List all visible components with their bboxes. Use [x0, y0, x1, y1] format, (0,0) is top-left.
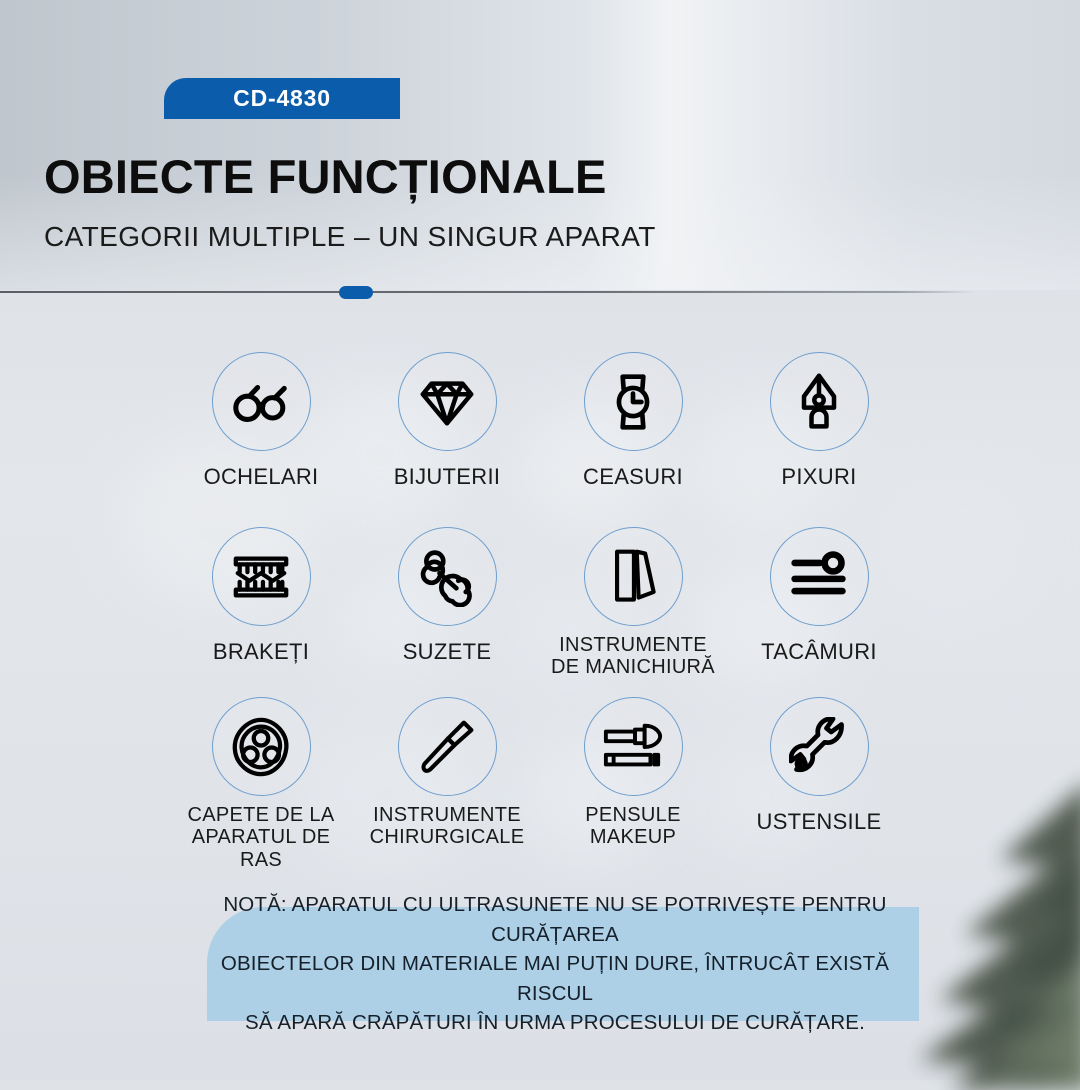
- icon-circle: [212, 352, 311, 451]
- category-item-instrumente-chirurgicale: INSTRUMENTE CHIRURGICALE: [354, 697, 540, 872]
- category-label: BIJUTERII: [394, 465, 501, 490]
- category-item-braketi: BRAKEȚI: [168, 527, 354, 697]
- dental-braces-icon: [230, 546, 292, 608]
- scalpel-icon: [417, 717, 477, 777]
- category-item-ustensile: USTENSILE: [726, 697, 912, 872]
- fountain-pen-nib-icon: [789, 372, 849, 432]
- icon-circle: [770, 697, 869, 796]
- category-label: INSTRUMENTE CHIRURGICALE: [370, 804, 525, 849]
- category-item-pensule-makeup: PENSULE MAKEUP: [540, 697, 726, 872]
- icon-circle: [212, 527, 311, 626]
- pacifier-icon: [417, 547, 477, 607]
- model-badge: CD-4830: [164, 78, 400, 119]
- category-item-bijuterii: BIJUTERII: [354, 352, 540, 527]
- header-divider: [0, 291, 975, 293]
- category-item-instrumente-de-manichiura: INSTRUMENTE DE MANICHIURĂ: [540, 527, 726, 697]
- icon-circle: [584, 352, 683, 451]
- header: CD-4830 OBIECTE FUNCȚIONALE CATEGORII MU…: [0, 0, 1080, 292]
- page-subtitle: CATEGORII MULTIPLE – UN SINGUR APARAT: [44, 221, 656, 253]
- icon-circle: [584, 697, 683, 796]
- category-item-capete-aparat-de-ras: CAPETE DE LA APARATUL DE RAS: [168, 697, 354, 872]
- makeup-brush-icon: [602, 716, 664, 778]
- icon-circle: [212, 697, 311, 796]
- category-label: PENSULE MAKEUP: [585, 804, 680, 849]
- divider-marker: [339, 286, 373, 299]
- cutlery-spoon-icon: [789, 547, 849, 607]
- category-label: PIXURI: [781, 465, 856, 490]
- category-item-ochelari: OCHELARI: [168, 352, 354, 527]
- page-title: OBIECTE FUNCȚIONALE: [44, 152, 607, 201]
- category-label: USTENSILE: [757, 810, 882, 835]
- category-label: CAPETE DE LA APARATUL DE RAS: [168, 804, 354, 871]
- model-badge-label: CD-4830: [233, 85, 331, 112]
- glasses-icon: [230, 371, 292, 433]
- shaver-heads-icon: [230, 716, 292, 778]
- category-label: BRAKEȚI: [213, 640, 309, 665]
- icon-circle: [398, 697, 497, 796]
- nail-file-icon: [603, 547, 663, 607]
- wristwatch-icon: [603, 372, 663, 432]
- note-text: NOTĂ: APARATUL CU ULTRASUNETE NU SE POTR…: [207, 890, 919, 1038]
- diamond-icon: [416, 371, 478, 433]
- category-item-pixuri: PIXURI: [726, 352, 912, 527]
- icon-circle: [770, 352, 869, 451]
- icon-circle: [398, 527, 497, 626]
- icon-circle: [584, 527, 683, 626]
- icon-circle: [398, 352, 497, 451]
- category-item-ceasuri: CEASURI: [540, 352, 726, 527]
- category-grid: OCHELARI BIJUTERII: [168, 352, 912, 872]
- category-label: SUZETE: [403, 640, 492, 665]
- category-label: CEASURI: [583, 465, 683, 490]
- category-label: INSTRUMENTE DE MANICHIURĂ: [551, 634, 715, 679]
- icon-circle: [770, 527, 869, 626]
- wrench-icon: [789, 717, 849, 777]
- category-item-suzete: SUZETE: [354, 527, 540, 697]
- category-item-tacamuri: TACÂMURI: [726, 527, 912, 697]
- note-box: NOTĂ: APARATUL CU ULTRASUNETE NU SE POTR…: [207, 907, 919, 1021]
- category-label: TACÂMURI: [761, 640, 877, 665]
- category-label: OCHELARI: [204, 465, 319, 490]
